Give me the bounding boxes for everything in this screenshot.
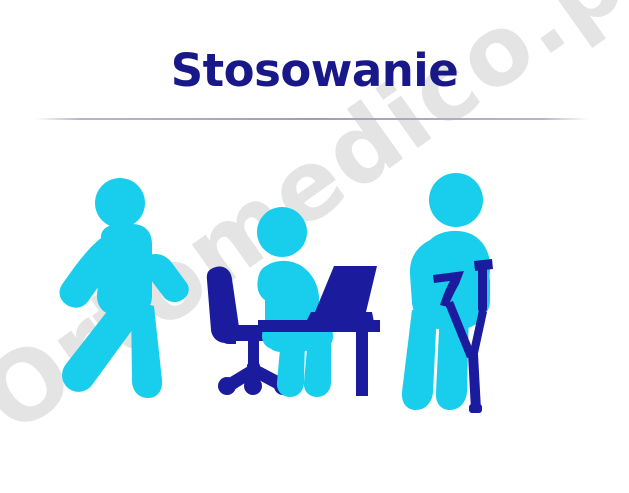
walking-person-front-arm [146,254,189,302]
page-title: Stosowanie [0,44,629,97]
seated-person-head [257,207,307,257]
walking-person-head [95,178,145,228]
chair-caster-left [218,377,236,395]
seated-person-figure [207,207,380,397]
slide-canvas: Ortomedico.pl Stosowanie [0,0,629,493]
desk-leg [356,330,368,396]
crutch-lower-shaft [468,354,481,410]
crutch-person-figure [402,173,493,413]
walking-person-figure [60,178,189,398]
title-divider [35,118,588,120]
walking-person-front-leg [131,300,162,398]
seated-person-lower-leg-left [277,338,305,397]
laptop-screen [315,266,377,312]
crutch-person-head [429,173,483,227]
crutch-tip [469,404,482,413]
crutch-person-front-leg [436,310,469,410]
crutch-handle [474,259,493,271]
crutch-person-back-leg [402,310,437,410]
seated-person-lower-leg-right [304,338,331,397]
walking-person-back-leg [62,300,141,392]
chair-caster-center [244,377,262,395]
